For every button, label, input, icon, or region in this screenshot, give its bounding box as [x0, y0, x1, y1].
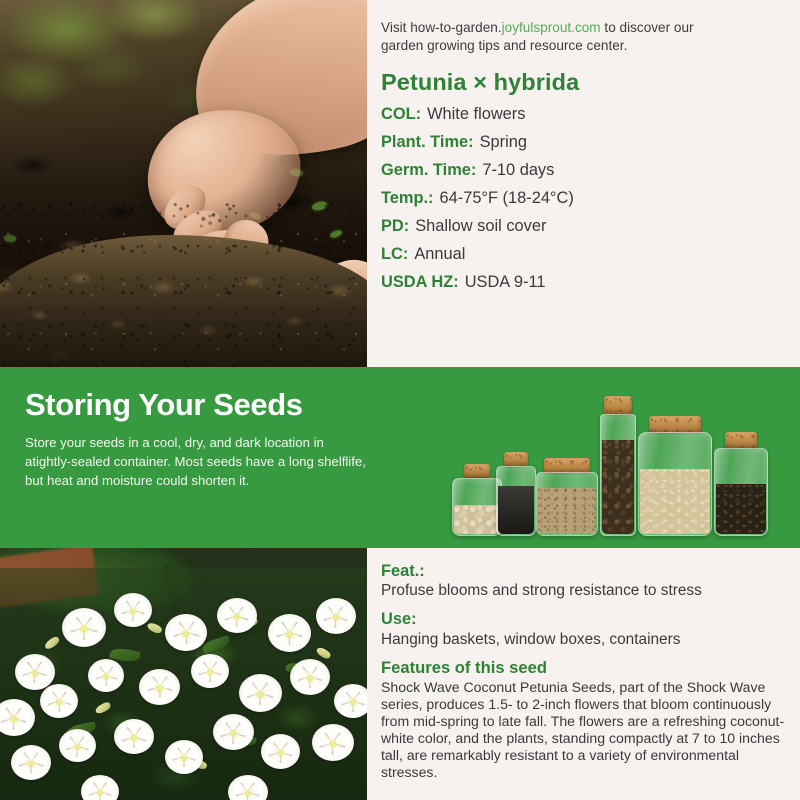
joyfulsprout-link[interactable]: joyfulsprout.com	[502, 20, 601, 35]
petunia-bloom	[114, 719, 154, 754]
spec-key: Temp.:	[381, 189, 434, 208]
cork-lid	[649, 416, 701, 433]
jar-body	[536, 472, 598, 536]
petunia-bloom	[165, 614, 207, 651]
petunia-bloom	[268, 614, 311, 652]
petunia-bloom	[334, 684, 367, 718]
soil-grit-texture	[0, 198, 367, 367]
seed-jars-illustration	[452, 384, 792, 536]
jar-body	[600, 414, 636, 536]
petunia-bloom	[217, 598, 257, 633]
spec-key: Germ. Time:	[381, 161, 476, 180]
storing-your-seeds-band: Storing Your Seeds Store your seeds in a…	[0, 367, 800, 548]
features-heading: Features of this seed	[381, 658, 786, 678]
jar-body	[452, 478, 502, 536]
cork-lid	[725, 432, 757, 448]
feature-value: Hanging baskets, window boxes, container…	[381, 631, 786, 650]
petunia-bloom	[290, 659, 330, 695]
feature-value: Profuse blooms and strong resistance to …	[381, 582, 786, 601]
photo-hand-sowing-seeds	[0, 0, 367, 367]
cork-lid	[604, 396, 632, 414]
seed-jar	[536, 458, 598, 536]
spec-value: USDA 9-11	[465, 273, 546, 292]
visit-line: Visit how-to-garden.joyfulsprout.com to …	[381, 19, 733, 55]
jar-body	[496, 466, 536, 536]
jar-contents	[602, 440, 634, 534]
petunia-bloom	[114, 593, 152, 627]
seed-jar	[600, 396, 636, 536]
feature-key: Feat.:	[381, 562, 786, 581]
spec-row-color: COL: White flowers	[381, 105, 782, 124]
petunia-bloom	[239, 674, 282, 712]
feature-group-use: Use: Hanging baskets, window boxes, cont…	[381, 610, 786, 649]
petunia-bloom	[59, 729, 96, 762]
spec-row-planting-depth: PD: Shallow soil cover	[381, 217, 782, 236]
specification-panel: Visit how-to-garden.joyfulsprout.com to …	[367, 0, 800, 367]
spec-value: 64-75°F (18-24°C)	[440, 189, 574, 208]
seed-packet-infographic: Visit how-to-garden.joyfulsprout.com to …	[0, 0, 800, 800]
jar-contents	[640, 469, 710, 534]
features-panel: Feat.: Profuse blooms and strong resista…	[367, 548, 800, 800]
petunia-bloom	[213, 714, 254, 750]
storing-body: Store your seeds in a cool, dry, and dar…	[25, 433, 370, 491]
spec-row-germination-time: Germ. Time: 7-10 days	[381, 161, 782, 180]
cork-lid	[544, 458, 590, 473]
features-body: Shock Wave Coconut Petunia Seeds, part o…	[381, 679, 786, 780]
feature-group-feat: Feat.: Profuse blooms and strong resista…	[381, 562, 786, 601]
petunia-bloom	[228, 775, 268, 800]
spec-key: PD:	[381, 217, 409, 236]
seed-jar	[638, 416, 712, 536]
petunia-bloom	[15, 654, 55, 690]
spec-row-usda-hardiness-zone: USDA HZ: USDA 9-11	[381, 273, 782, 292]
spec-row-temperature: Temp.: 64-75°F (18-24°C)	[381, 189, 782, 208]
storing-heading: Storing Your Seeds	[25, 389, 385, 422]
spec-value: White flowers	[427, 105, 525, 124]
spec-value: Annual	[414, 245, 465, 264]
jar-contents	[498, 486, 534, 534]
photo-white-petunias	[0, 548, 367, 800]
spec-key: USDA HZ:	[381, 273, 459, 292]
visit-prefix: Visit how-to-garden.	[381, 20, 502, 35]
petunia-bloom	[88, 659, 124, 692]
page-title: Petunia × hybrida	[381, 69, 782, 96]
spec-key: COL:	[381, 105, 421, 124]
specification-list: COL: White flowers Plant. Time: Spring G…	[381, 105, 782, 292]
spec-key: Plant. Time:	[381, 133, 474, 152]
spec-value: Shallow soil cover	[415, 217, 546, 236]
seed-jar	[496, 452, 536, 536]
cork-lid	[464, 464, 490, 477]
petunia-bloom	[191, 654, 229, 688]
petunia-bloom	[11, 745, 51, 780]
petunia-bloom	[165, 740, 203, 774]
spec-value: Spring	[480, 133, 527, 152]
spec-row-planting-time: Plant. Time: Spring	[381, 133, 782, 152]
spec-value: 7-10 days	[482, 161, 554, 180]
seed-jar	[714, 432, 768, 536]
storing-text-block: Storing Your Seeds Store your seeds in a…	[25, 389, 385, 490]
seed-jar	[452, 464, 502, 536]
petunia-bloom	[81, 775, 119, 800]
feature-key: Use:	[381, 610, 786, 629]
spec-row-life-cycle: LC: Annual	[381, 245, 782, 264]
jar-contents	[716, 484, 766, 534]
jar-body	[714, 448, 768, 536]
cork-lid	[504, 452, 528, 466]
jar-contents	[454, 505, 500, 534]
spec-key: LC:	[381, 245, 408, 264]
petunia-bloom	[261, 734, 300, 769]
jar-contents	[538, 488, 596, 534]
petunia-bloom	[316, 598, 356, 634]
jar-body	[638, 432, 712, 536]
